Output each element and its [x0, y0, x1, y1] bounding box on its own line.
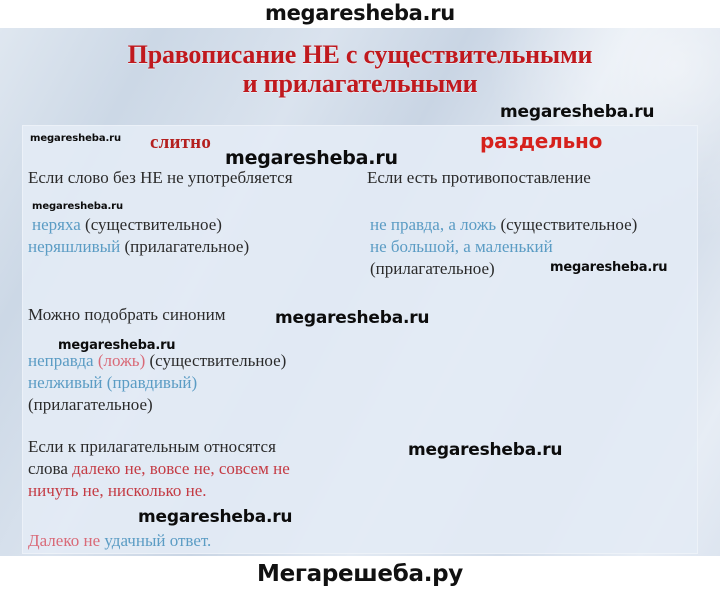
example-neryashlivyy-pos: (прилагательное)	[124, 237, 249, 256]
page-title-line-2: и прилагательными	[0, 69, 720, 98]
rule-negative-adverbs-prefix: слова	[28, 459, 72, 478]
example-ne-bolshoy-pos: (прилагательное)	[370, 259, 495, 278]
bottom-watermark-text: Мегарешеба.ру	[0, 561, 720, 587]
example-neryakha-word: неряха	[32, 215, 81, 234]
poster-slide: Правописание НЕ с существительными и при…	[0, 28, 720, 556]
example-daleko-ne: Далеко не удачный ответ.	[28, 531, 211, 552]
example-neryashlivyy-word: неряшливый	[28, 237, 120, 256]
example-daleko-ne-rest: удачный ответ.	[104, 531, 211, 550]
content-card: слитно раздельно Если слово без НЕ не уп…	[22, 125, 698, 554]
rule-negative-adverbs-words-2: ничуть не, нисколько не.	[28, 481, 207, 500]
page-title-line-1: Правописание НЕ с существительными	[0, 40, 720, 69]
example-ne-pravda: не правда, а ложь (существительное)	[370, 215, 637, 236]
bottom-watermark-band: Мегарешеба.ру	[0, 556, 720, 594]
example-nepravda: неправда (ложь) (существительное)	[28, 351, 286, 372]
example-nelzhivyy-synonym: (правдивый)	[107, 373, 197, 392]
example-nelzhivyy-word: нелживый	[28, 373, 103, 392]
example-nelzhivyy: нелживый (правдивый)	[28, 373, 197, 394]
page-title: Правописание НЕ с существительными и при…	[0, 40, 720, 98]
column-heading-merged: слитно	[150, 132, 211, 154]
rule-negative-adverbs: Если к прилагательным относятся слова да…	[28, 436, 358, 501]
rule-negative-adverbs-words-1: далеко не, вовсе не, совсем не	[72, 459, 290, 478]
top-watermark-text: megaresheba.ru	[0, 1, 720, 25]
column-heading-separate: раздельно	[480, 129, 602, 153]
example-neryashlivyy: неряшливый (прилагательное)	[28, 237, 249, 258]
example-neryakha: неряха (существительное)	[32, 215, 222, 236]
example-ne-bolshoy-word: не большой, а маленький	[370, 237, 553, 256]
example-ne-bolshoy-pos-line: (прилагательное)	[370, 259, 495, 280]
rule-contrast: Если есть противопоставление	[367, 168, 591, 188]
watermark-overlay: megaresheba.ru	[500, 102, 654, 122]
rule-synonym: Можно подобрать синоним	[28, 305, 226, 325]
example-neryakha-pos: (существительное)	[85, 215, 222, 234]
example-nelzhivyy-pos: (прилагательное)	[28, 395, 153, 414]
example-nepravda-word: неправда	[28, 351, 94, 370]
example-ne-bolshoy: не большой, а маленький	[370, 237, 553, 258]
page-root: megaresheba.ru Правописание НЕ с существ…	[0, 0, 720, 594]
example-nelzhivyy-pos-line: (прилагательное)	[28, 395, 153, 416]
example-daleko-ne-marker: Далеко не	[28, 531, 100, 550]
example-nepravda-pos: (существительное)	[149, 351, 286, 370]
example-ne-pravda-pos: (существительное)	[500, 215, 637, 234]
rule-negative-adverbs-line-1: Если к прилагательным относятся	[28, 437, 276, 456]
example-ne-pravda-word: не правда, а ложь	[370, 215, 496, 234]
rule-no-use-without-ne: Если слово без НЕ не употребляется	[28, 168, 293, 188]
example-nepravda-synonym: (ложь)	[98, 351, 145, 370]
top-watermark-band: megaresheba.ru	[0, 0, 720, 28]
